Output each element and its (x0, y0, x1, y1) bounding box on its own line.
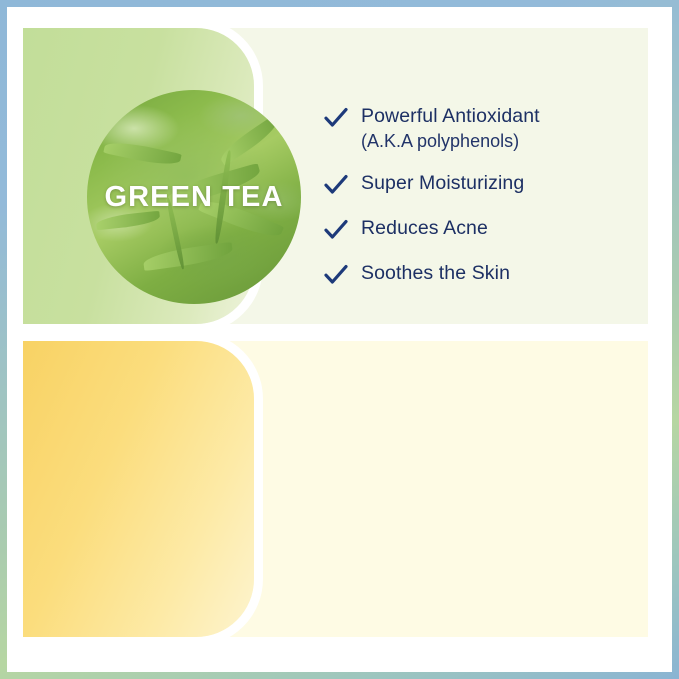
badge-green-tea: GREEN TEA (87, 90, 301, 304)
benefit-label: Super Moisturizing (361, 171, 524, 197)
benefit-item: Reduces Acne (323, 216, 630, 243)
benefit-label-sub: (A.K.A polyphenols) (361, 130, 540, 154)
benefits-list-green-tea: Powerful Antioxidant (A.K.A polyphenols)… (323, 104, 630, 306)
benefit-item: Powerful Antioxidant (A.K.A polyphenols) (323, 104, 630, 153)
panel-vitamin-e-tint-block (23, 341, 254, 637)
checkmark-icon (323, 105, 349, 131)
checkmark-icon (323, 262, 349, 288)
benefit-label: Powerful Antioxidant (A.K.A polyphenols) (361, 104, 540, 153)
white-mat: GREEN TEA Powerful Antioxidant (A.K.A po… (7, 7, 672, 672)
benefit-label: Soothes the Skin (361, 261, 510, 287)
benefit-label: Reduces Acne (361, 216, 488, 242)
benefit-item: Soothes the Skin (323, 261, 630, 288)
benefit-label-main: Powerful Antioxidant (361, 105, 540, 127)
badge-label-green-tea: GREEN TEA (104, 183, 283, 212)
panel-green-tea: GREEN TEA Powerful Antioxidant (A.K.A po… (23, 28, 648, 324)
panel-vitamin-e: VITAMIN E Repairs cell membranes Reduces… (23, 341, 648, 637)
benefit-item: Super Moisturizing (323, 171, 630, 198)
ingredient-benefits-infographic: GREEN TEA Powerful Antioxidant (A.K.A po… (0, 0, 679, 679)
checkmark-icon (323, 217, 349, 243)
checkmark-icon (323, 172, 349, 198)
